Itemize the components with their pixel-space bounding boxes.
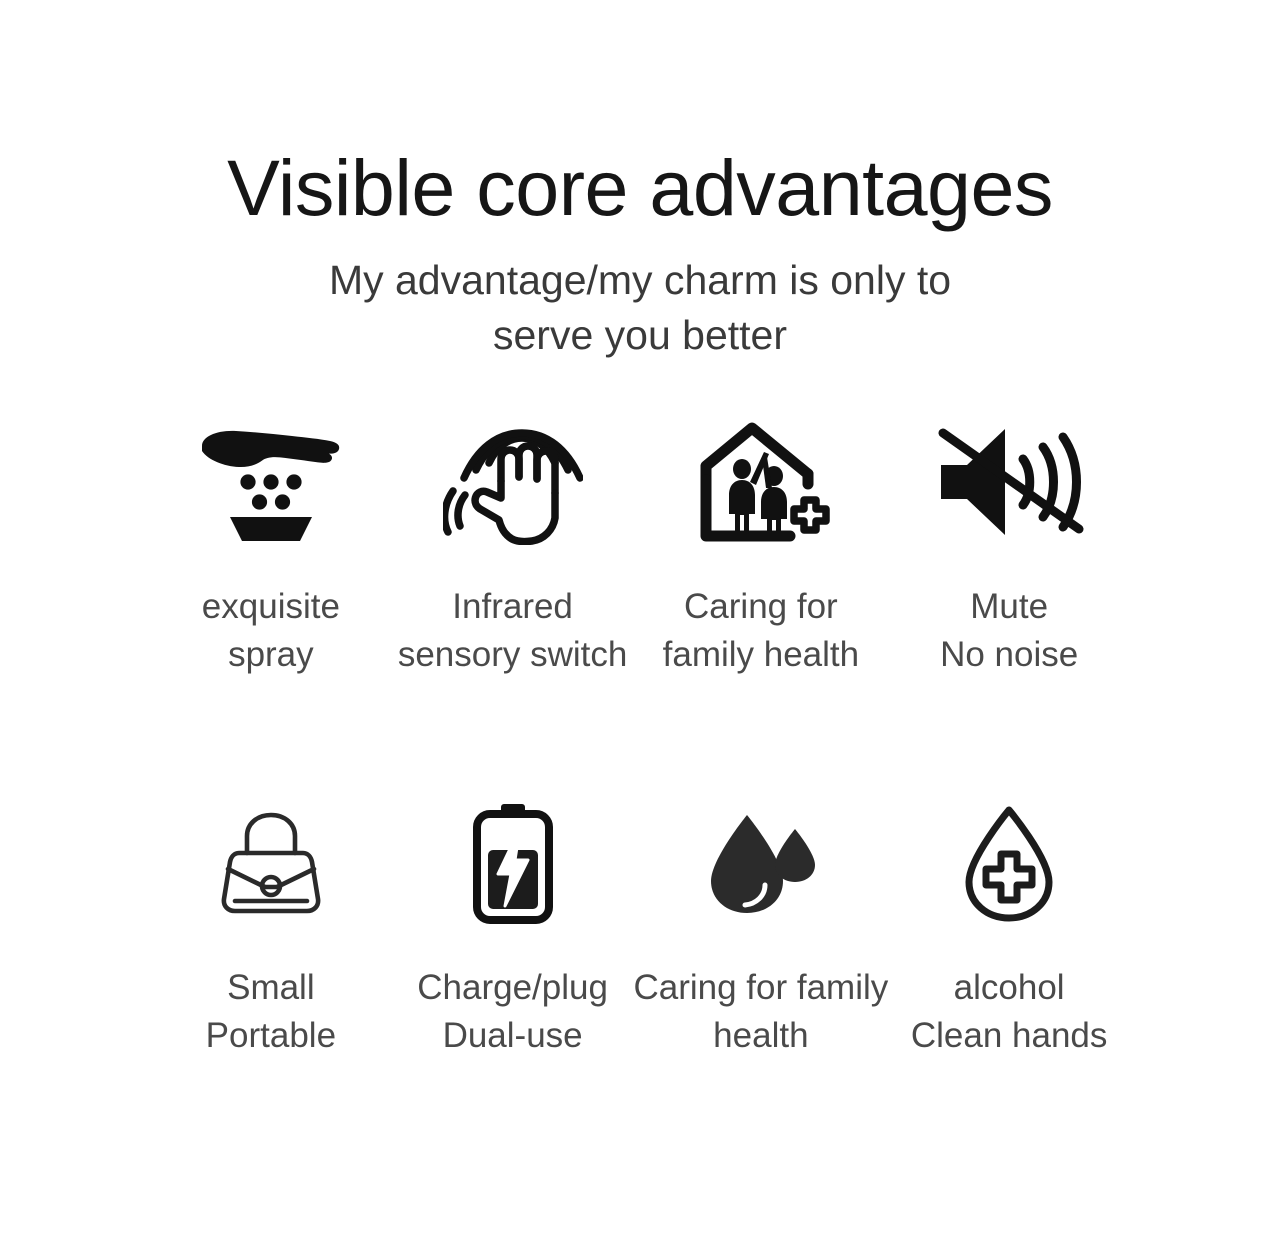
subtitle-line-1: My advantage/my charm is only to	[0, 253, 1280, 308]
droplet-medical-cross-icon	[959, 798, 1059, 928]
feature-label-line-2: spray	[202, 631, 340, 679]
row-spacer	[150, 680, 1130, 798]
speaker-mute-icon	[933, 414, 1085, 549]
feature-label: alcohol Clean hands	[911, 964, 1108, 1061]
feature-label: Charge/plug Dual-use	[417, 964, 608, 1061]
feature-label: Mute No noise	[940, 583, 1078, 680]
feature-label-line-2: sensory switch	[398, 631, 628, 679]
feature-label: Caring for family health	[633, 964, 888, 1061]
feature-label: Caring for family health	[663, 583, 859, 680]
feature-label-line-2: Portable	[206, 1012, 336, 1060]
feature-item-caring-family-health-water: Caring for family health	[633, 798, 888, 1061]
feature-label-line-2: family health	[663, 631, 859, 679]
subtitle-line-2: serve you better	[0, 308, 1280, 363]
battery-charging-icon	[465, 798, 561, 928]
feature-label: Infrared sensory switch	[398, 583, 628, 680]
feature-item-infrared-sensory-switch: Infrared sensory switch	[392, 414, 634, 680]
feature-label-line-1: Caring for family	[633, 964, 888, 1012]
water-droplets-icon	[703, 798, 819, 928]
house-family-health-icon	[686, 414, 836, 549]
feature-label-line-1: Small	[206, 964, 336, 1012]
page-subtitle: My advantage/my charm is only to serve y…	[0, 253, 1280, 362]
feature-label-line-1: Charge/plug	[417, 964, 608, 1012]
feature-label: exquisite spray	[202, 583, 340, 680]
feature-item-alcohol-clean-hands: alcohol Clean hands	[888, 798, 1130, 1061]
feature-label-line-2: Clean hands	[911, 1012, 1108, 1060]
handbag-icon	[215, 798, 327, 928]
feature-item-mute-no-noise: Mute No noise	[888, 414, 1130, 680]
feature-label-line-1: Caring for	[663, 583, 859, 631]
feature-label-line-1: Mute	[940, 583, 1078, 631]
advantages-infographic: Visible core advantages My advantage/my …	[0, 0, 1280, 1244]
feature-grid: exquisite spray	[0, 414, 1280, 1060]
feature-label-line-2: No noise	[940, 631, 1078, 679]
hand-spray-basin-icon	[196, 414, 346, 549]
feature-item-small-portable: Small Portable	[150, 798, 392, 1061]
feature-item-exquisite-spray: exquisite spray	[150, 414, 392, 680]
feature-label-line-1: exquisite	[202, 583, 340, 631]
page-title: Visible core advantages	[0, 148, 1280, 227]
feature-item-caring-family-health: Caring for family health	[633, 414, 888, 680]
feature-label-line-2: Dual-use	[417, 1012, 608, 1060]
feature-label-line-2: health	[633, 1012, 888, 1060]
feature-item-charge-plug-dual-use: Charge/plug Dual-use	[392, 798, 634, 1061]
infrared-hand-sensor-icon	[443, 414, 583, 549]
header: Visible core advantages My advantage/my …	[0, 0, 1280, 362]
feature-label-line-1: Infrared	[398, 583, 628, 631]
feature-label: Small Portable	[206, 964, 336, 1061]
feature-label-line-1: alcohol	[911, 964, 1108, 1012]
